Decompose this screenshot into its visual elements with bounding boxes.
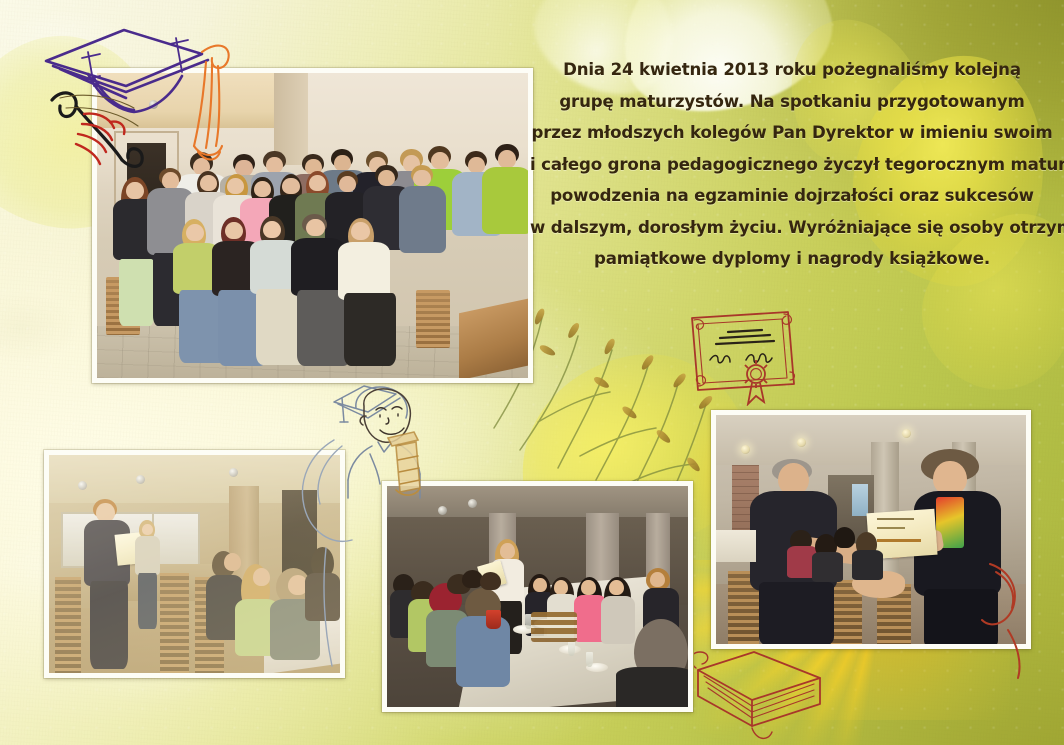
window bbox=[852, 484, 868, 516]
person-head bbox=[650, 572, 665, 587]
person-head bbox=[554, 580, 568, 595]
wheat-grain bbox=[697, 394, 714, 411]
diploma-certificate-doodle bbox=[684, 296, 814, 406]
person-head bbox=[162, 172, 179, 188]
chair bbox=[416, 290, 450, 348]
group-photo-content bbox=[97, 73, 528, 378]
person-head bbox=[186, 224, 204, 241]
person-head bbox=[334, 155, 351, 171]
wheat-grain bbox=[685, 456, 702, 473]
person-head bbox=[200, 175, 217, 191]
person-head bbox=[142, 524, 154, 536]
person-legs bbox=[119, 259, 153, 326]
wheat-grain bbox=[621, 405, 639, 421]
person-head bbox=[468, 157, 485, 173]
person-head bbox=[253, 568, 270, 585]
person-legs bbox=[138, 573, 157, 630]
person-torso bbox=[482, 167, 528, 234]
person-head bbox=[96, 503, 115, 522]
book-doodle bbox=[694, 648, 844, 744]
person-torso bbox=[291, 238, 345, 296]
person-torso bbox=[338, 242, 390, 300]
person-head bbox=[309, 175, 326, 191]
chair bbox=[55, 577, 81, 673]
side-table bbox=[716, 530, 756, 562]
person-head bbox=[351, 222, 370, 240]
person-torso bbox=[812, 552, 843, 582]
person-hair bbox=[834, 527, 856, 548]
person-head bbox=[306, 219, 325, 237]
person-torso bbox=[305, 573, 340, 621]
person-torso bbox=[135, 536, 159, 575]
person-hair bbox=[480, 572, 501, 590]
person-torso bbox=[456, 616, 510, 687]
glass bbox=[568, 641, 575, 656]
caption-text: Dnia 24 kwietnia 2013 roku pożegnaliśmy … bbox=[530, 54, 1054, 275]
person-torso bbox=[616, 667, 688, 707]
wheat-grain bbox=[592, 375, 610, 390]
scrapbook-page: Dnia 24 kwietnia 2013 roku pożegnaliśmy … bbox=[0, 0, 1064, 745]
person-head bbox=[254, 181, 271, 197]
table-photo-content bbox=[387, 486, 688, 707]
person-legs bbox=[924, 589, 998, 644]
diploma-text-line bbox=[877, 527, 905, 529]
person-head bbox=[224, 553, 241, 570]
person-torso bbox=[399, 186, 446, 253]
cake-stand bbox=[531, 612, 577, 642]
caption-line-7: pamiątkowe dyplomy i nagrody książkowe. bbox=[530, 243, 1054, 275]
wheat-grain bbox=[602, 337, 616, 355]
ceiling-lamp-icon bbox=[438, 506, 447, 515]
award-left-photo-content bbox=[49, 455, 340, 673]
person-head bbox=[498, 150, 516, 167]
person-head bbox=[500, 543, 515, 558]
diploma-certificate-svg bbox=[684, 296, 814, 406]
ceiling-lamp-icon bbox=[797, 438, 806, 447]
person-head bbox=[581, 580, 595, 595]
caption-line-5: powodzenia na egzaminie dojrzałości oraz… bbox=[530, 180, 1054, 212]
person-head bbox=[609, 580, 624, 595]
person-head bbox=[282, 178, 299, 194]
wheat-grain bbox=[655, 428, 672, 445]
person-legs bbox=[344, 293, 396, 366]
wheat-grain bbox=[533, 307, 546, 325]
person-head bbox=[339, 176, 356, 192]
person-head bbox=[263, 221, 281, 238]
ceiling-lamp-icon bbox=[136, 475, 145, 484]
ceiling-lamp-icon bbox=[902, 429, 911, 438]
person-torso bbox=[601, 596, 635, 645]
caption-line-3: przez młodszych kolegów Pan Dyrektor w i… bbox=[530, 117, 1054, 149]
person-torso bbox=[852, 550, 883, 580]
caption-line-6: w dalszym, dorosłym życiu. Wyróżniające … bbox=[530, 212, 1054, 244]
table-photo[interactable] bbox=[382, 481, 693, 712]
person-head bbox=[225, 222, 243, 239]
red-candle-jar bbox=[486, 610, 501, 629]
person-head bbox=[533, 578, 547, 592]
wheat-grain bbox=[671, 372, 687, 390]
person-head bbox=[933, 461, 967, 495]
caption-line-2: grupę maturzystów. Na spotkaniu przygoto… bbox=[530, 86, 1054, 118]
person-head bbox=[413, 170, 430, 186]
person-head bbox=[431, 152, 449, 169]
wheat-grain bbox=[566, 321, 581, 339]
person-head bbox=[378, 170, 395, 186]
person-head bbox=[227, 178, 244, 194]
person-legs bbox=[759, 582, 833, 644]
caption-line-4: i całego grona pedagogicznego życzył teg… bbox=[530, 149, 1054, 181]
person-legs bbox=[90, 581, 128, 668]
diploma-text-line bbox=[877, 539, 920, 542]
award-left-photo[interactable] bbox=[44, 450, 345, 678]
person-legs bbox=[297, 290, 351, 366]
person-head bbox=[126, 182, 143, 199]
chair bbox=[160, 573, 189, 673]
caption-line-1: Dnia 24 kwietnia 2013 roku pożegnaliśmy … bbox=[530, 54, 1054, 86]
person-head bbox=[266, 157, 283, 173]
wheat-grain bbox=[640, 354, 656, 372]
handshake-photo-content bbox=[716, 415, 1026, 644]
ceiling-lamp-icon bbox=[741, 445, 750, 454]
handshake-photo[interactable] bbox=[711, 410, 1031, 649]
book-svg bbox=[694, 648, 844, 744]
diploma-text-line bbox=[877, 518, 914, 520]
group-photo[interactable] bbox=[92, 68, 533, 383]
glass bbox=[586, 652, 593, 667]
wheat-grain bbox=[538, 343, 556, 357]
wall-beam bbox=[97, 73, 274, 128]
